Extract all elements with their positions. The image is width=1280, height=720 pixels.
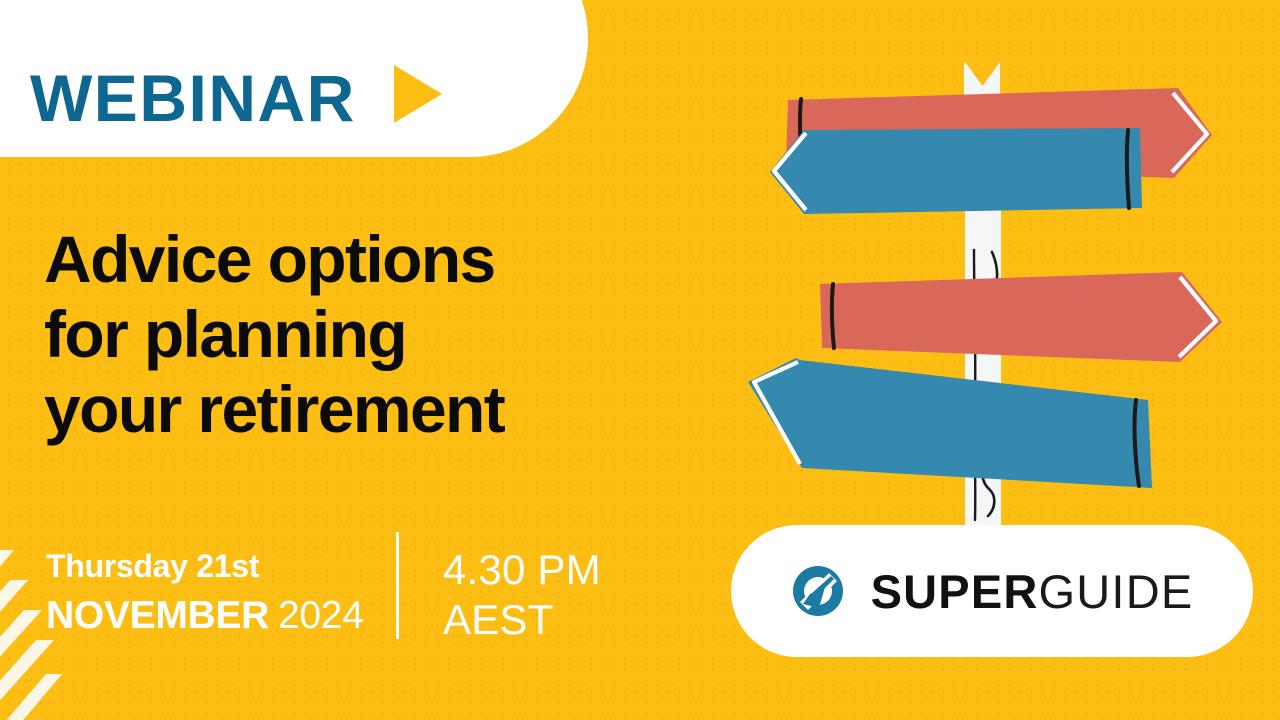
webinar-label: WEBINAR (30, 65, 356, 131)
superguide-wordmark: SUPERGUIDE (871, 568, 1194, 615)
sign-arrow-red-lower (820, 272, 1222, 362)
play-triangle-icon (394, 65, 442, 123)
event-time: 4.30 PM AEST (399, 525, 601, 645)
logo-guide-text: GUIDE (1039, 565, 1194, 618)
headline-line-1: Advice options (44, 222, 504, 297)
event-month-year: NOVEMBER2024 (46, 592, 396, 640)
event-month: NOVEMBER (46, 594, 269, 637)
superguide-logo: SUPERGUIDE (731, 525, 1253, 657)
webinar-badge: WEBINAR (0, 0, 588, 157)
logo-super-text: SUPER (871, 565, 1039, 618)
event-date: Thursday 21st NOVEMBER2024 (46, 525, 396, 645)
event-year: 2024 (278, 594, 364, 637)
event-day: Thursday 21st (46, 547, 396, 585)
page-title: Advice options for planning your retirem… (44, 222, 504, 447)
event-details: Thursday 21st NOVEMBER2024 4.30 PM AEST (46, 525, 601, 645)
superguide-swirl-icon (791, 564, 845, 618)
event-timezone: AEST (443, 595, 601, 645)
sign-arrow-blue-upper (770, 128, 1142, 214)
headline-line-3: your retirement (44, 372, 504, 447)
webinar-poster: WEBINAR Advice options for planning your… (0, 0, 1280, 720)
event-time-value: 4.30 PM (443, 545, 601, 595)
headline-line-2: for planning (44, 297, 504, 372)
sign-arrow-blue-lower (748, 358, 1152, 488)
